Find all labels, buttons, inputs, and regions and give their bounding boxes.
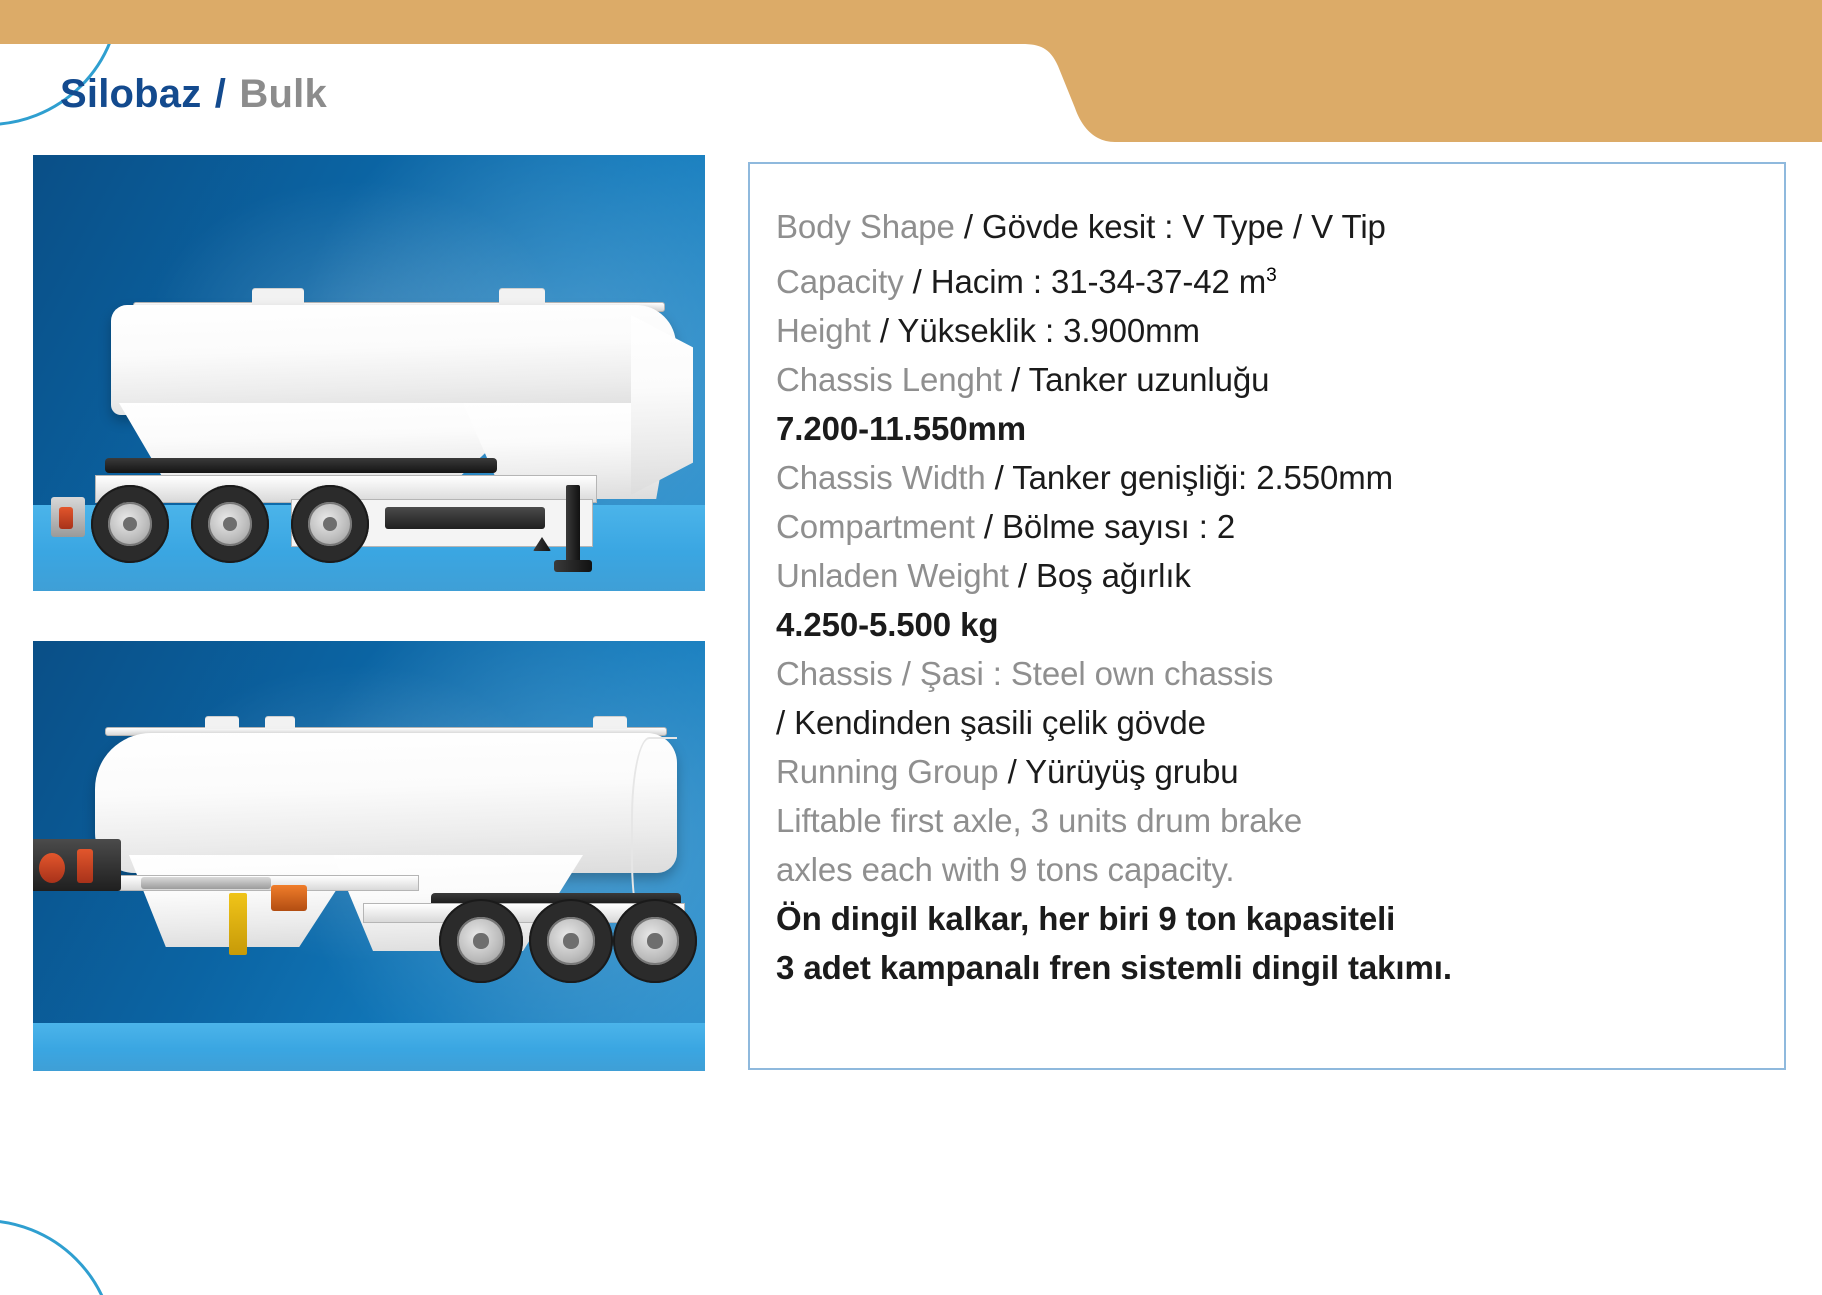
spec-value: / Yürüyüş grubu	[999, 753, 1239, 790]
page-title-separator: /	[213, 72, 228, 116]
spec-row-unladen-weight: Unladen Weight / Boş ağırlık	[776, 551, 1768, 600]
spec-row-height: Height / Yükseklik : 3.900mm	[776, 306, 1768, 355]
catalog-page: Silobaz / Bulk	[0, 0, 1822, 1295]
spec-row-unladen-weight-value: 4.250-5.500 kg	[776, 600, 1768, 649]
spec-row-chassis-tr: / Kendinden şasili çelik gövde	[776, 698, 1768, 747]
spec-label: axles each with 9 tons capacity.	[776, 851, 1234, 888]
spec-value: / Yükseklik : 3.900mm	[871, 312, 1200, 349]
spec-value: 4.250-5.500 kg	[776, 606, 998, 643]
spec-row-running-group-tr-1: Ön dingil kalkar, her biri 9 ton kapasit…	[776, 894, 1768, 943]
spec-label: Capacity	[776, 263, 913, 300]
spec-label: Body Shape	[776, 208, 955, 245]
spec-value: / Bölme sayısı : 2	[975, 508, 1235, 545]
spec-label: Liftable first axle, 3 units drum brake	[776, 802, 1302, 839]
specifications-list: Body Shape / Gövde kesit : V Type / V Ti…	[776, 202, 1768, 992]
product-photo-side	[33, 641, 705, 1071]
spec-value: / Hacim : 31-34-37-42 m	[913, 263, 1267, 300]
spec-value: 7.200-11.550mm	[776, 410, 1026, 447]
corner-arc-bottom-left-icon	[0, 1219, 116, 1295]
tanker-illustration-side	[33, 641, 705, 1071]
tanker-illustration-rear	[33, 155, 705, 591]
page-title: Silobaz / Bulk	[60, 72, 327, 117]
spec-value: / Tanker uzunluğu	[1002, 361, 1269, 398]
specifications-panel: Body Shape / Gövde kesit : V Type / V Ti…	[748, 162, 1786, 1070]
page-title-en: Bulk	[239, 72, 326, 116]
spec-label: Chassis / Şasi : Steel own chassis	[776, 655, 1273, 692]
spec-label: Unladen Weight	[776, 557, 1009, 594]
spec-row-running-group-en-1: Liftable first axle, 3 units drum brake	[776, 796, 1768, 845]
spec-row-running-group-en-2: axles each with 9 tons capacity.	[776, 845, 1768, 894]
spec-row-running-group-tr-2: 3 adet kampanalı fren sistemli dingil ta…	[776, 943, 1768, 992]
spec-value: / Gövde kesit : V Type / V Tip	[955, 208, 1386, 245]
spec-row-chassis-length: Chassis Lenght / Tanker uzunluğu	[776, 355, 1768, 404]
spec-row-capacity: Capacity / Hacim : 31-34-37-42 m3	[776, 251, 1768, 306]
spec-row-chassis: Chassis / Şasi : Steel own chassis	[776, 649, 1768, 698]
spec-label: Height	[776, 312, 871, 349]
spec-row-chassis-width: Chassis Width / Tanker genişliği: 2.550m…	[776, 453, 1768, 502]
spec-label: Chassis Lenght	[776, 361, 1002, 398]
page-title-tr: Silobaz	[60, 72, 201, 116]
product-photo-rear	[33, 155, 705, 591]
spec-label: Compartment	[776, 508, 975, 545]
spec-row-body-shape: Body Shape / Gövde kesit : V Type / V Ti…	[776, 202, 1768, 251]
spec-row-chassis-length-value: 7.200-11.550mm	[776, 404, 1768, 453]
spec-value-superscript: 3	[1266, 265, 1277, 286]
spec-value: 3 adet kampanalı fren sistemli dingil ta…	[776, 949, 1452, 986]
spec-label: Chassis Width	[776, 459, 986, 496]
spec-value: Ön dingil kalkar, her biri 9 ton kapasit…	[776, 900, 1395, 937]
spec-row-compartment: Compartment / Bölme sayısı : 2	[776, 502, 1768, 551]
spec-row-running-group: Running Group / Yürüyüş grubu	[776, 747, 1768, 796]
spec-value: / Boş ağırlık	[1009, 557, 1191, 594]
spec-label: Running Group	[776, 753, 999, 790]
spec-value: / Kendinden şasili çelik gövde	[776, 704, 1206, 741]
gold-header-band	[0, 0, 1822, 142]
spec-value: / Tanker genişliği: 2.550mm	[986, 459, 1393, 496]
